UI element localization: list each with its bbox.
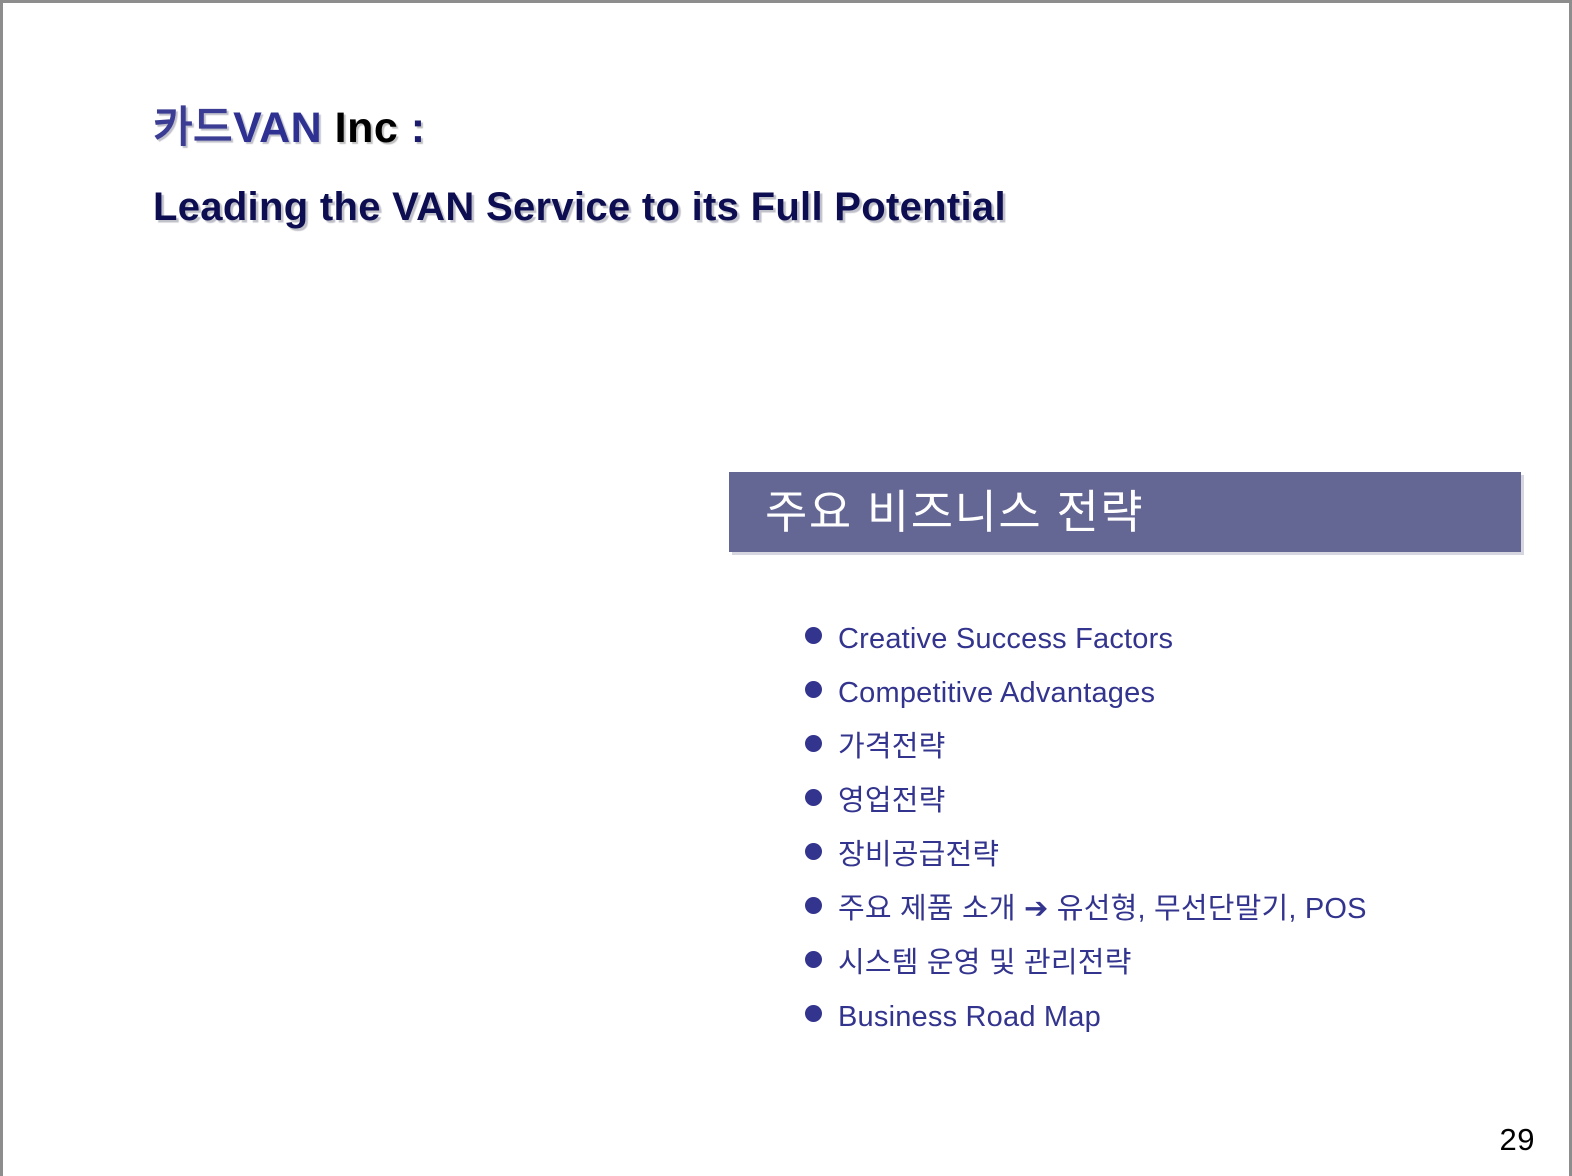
bullet-dot-icon xyxy=(805,789,822,806)
list-item: 장비공급전략 xyxy=(805,841,1525,895)
title-colon: : xyxy=(398,104,425,152)
bullet-dot-icon xyxy=(805,627,822,644)
title-block: 카드VAN Inc : Leading the VAN Service to i… xyxy=(153,107,1353,230)
list-item: 영업전략 xyxy=(805,787,1525,841)
list-item-label: 영업전략 xyxy=(838,787,946,816)
bullet-dot-icon xyxy=(805,1005,822,1022)
slide-canvas: 카드VAN Inc : Leading the VAN Service to i… xyxy=(0,0,1572,1176)
section-banner: 주요 비즈니스 전략 xyxy=(729,472,1521,552)
page-title: 카드VAN Inc : xyxy=(153,107,1353,150)
list-item: 가격전략 xyxy=(805,733,1525,787)
title-inc: Inc xyxy=(322,104,398,152)
page-number: 29 xyxy=(1500,1122,1535,1158)
page-subtitle: Leading the VAN Service to its Full Pote… xyxy=(153,185,1353,230)
list-item-label: Business Road Map xyxy=(838,1003,1101,1032)
bullet-dot-icon xyxy=(805,897,822,914)
list-item-label: 주요 제품 소개 ➔ 유선형, 무선단말기, POS xyxy=(838,895,1367,924)
list-item-label: 가격전략 xyxy=(838,733,946,762)
list-item-label: Competitive Advantages xyxy=(838,679,1155,708)
title-korean-prefix: 카드 xyxy=(153,104,233,152)
list-item: Competitive Advantages xyxy=(805,679,1525,733)
list-item-label: Creative Success Factors xyxy=(838,625,1173,654)
title-van: VAN xyxy=(233,104,322,152)
bullet-dot-icon xyxy=(805,681,822,698)
list-item: 주요 제품 소개 ➔ 유선형, 무선단말기, POS xyxy=(805,895,1525,949)
bullet-dot-icon xyxy=(805,735,822,752)
list-item-label: 시스템 운영 및 관리전략 xyxy=(838,949,1132,978)
bullet-dot-icon xyxy=(805,843,822,860)
bullet-list: Creative Success Factors Competitive Adv… xyxy=(805,625,1525,1057)
bullet-dot-icon xyxy=(805,951,822,968)
list-item: Business Road Map xyxy=(805,1003,1525,1057)
list-item-label: 장비공급전략 xyxy=(838,841,999,870)
section-banner-heading: 주요 비즈니스 전략 xyxy=(765,489,1144,535)
list-item: Creative Success Factors xyxy=(805,625,1525,679)
list-item: 시스템 운영 및 관리전략 xyxy=(805,949,1525,1003)
